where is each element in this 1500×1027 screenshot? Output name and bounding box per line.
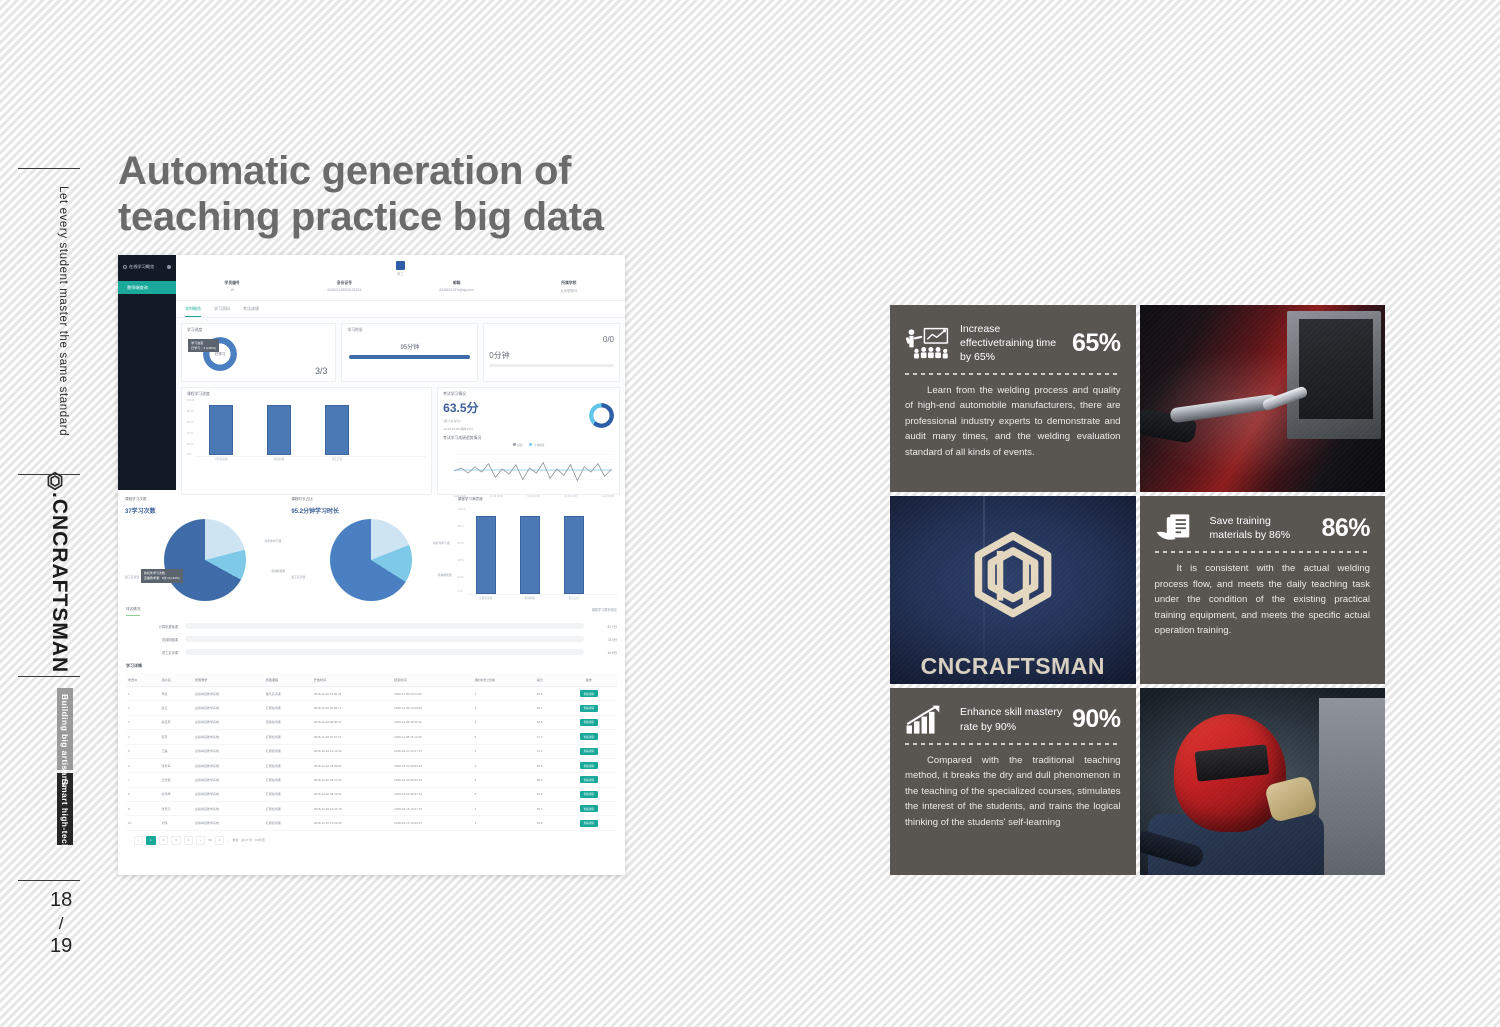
progress-fraction: 3/3 [315, 366, 328, 376]
xtick: 机械制图 [264, 457, 294, 461]
satisfaction-bars-plot: 100 % 80 % 60 % 40 % 20 % 0 % 计算机基础 机械制图… [458, 508, 618, 600]
zero-fraction: 0/0 [489, 335, 614, 344]
table-cell: 虚拟焊接教学系统 [193, 701, 264, 715]
goto-label[interactable]: 前往 [233, 838, 239, 842]
ranking-track [185, 649, 584, 655]
welder-red-helmet-photo [1140, 688, 1386, 875]
table-cell: 童凡实训课 [264, 687, 312, 701]
pie-left-caption: 课程学习次数 [125, 497, 285, 502]
table-cell: 打磨检测课 [264, 816, 312, 830]
ranking-value: 87.7分 [591, 624, 617, 629]
table-cell: 2018-10-22 08:27:51 [392, 787, 472, 801]
table-row: 2赵五虚拟焊接教学系统打磨检测课2018-11-09 09:59:112018-… [126, 701, 617, 715]
hexagon-knot-logo-icon [44, 470, 66, 492]
table-row: 6张永军虚拟焊接教学系统打磨检测课2018-10-24 09:50:502018… [126, 758, 617, 772]
stat-label: Enhance skill mastery rate by 90% [960, 705, 1063, 733]
table-cell: 2018-10-22 08:23:33 [392, 773, 472, 787]
ranking-track [185, 623, 584, 629]
table-cell: 打磨检测课 [264, 787, 312, 801]
table-cell: 虚拟焊接教学系统 [193, 715, 264, 729]
view-detail-button[interactable]: 查看详情 [580, 690, 598, 697]
table-cell: 64.0 [535, 787, 561, 801]
table-row: 8杜伟坤虚拟焊接教学系统打磨检测课2018-10-22 08:22:012018… [126, 787, 617, 801]
bar [209, 405, 233, 455]
column-header: 结束时间 [392, 673, 472, 687]
table-cell: 41.9 [535, 744, 561, 758]
table-cell: 59.7 [535, 701, 561, 715]
table-cell: 打磨检测课 [264, 802, 312, 816]
table-cell: 2 [473, 744, 535, 758]
table-cell: 虚拟焊接教学系统 [193, 730, 264, 744]
dashboard-top: 在线学习概览 教师端查询 张三 学员编号 19 [118, 255, 625, 490]
stat-body: Learn from the welding process and quali… [905, 383, 1121, 461]
table-cell: 3 [126, 715, 160, 729]
table-cell: 赵五 [160, 701, 194, 715]
table-row: 1李某虚拟焊接教学系统童凡实训课2018-11-09 10:00:312018-… [126, 687, 617, 701]
time-panel: 学习时长 95分钟 [341, 323, 478, 382]
table-cell: 35.4 [535, 802, 561, 816]
table-cell: 虚拟焊接教学系统 [193, 802, 264, 816]
table-cell: 47.4 [535, 730, 561, 744]
page-separator: / [50, 913, 72, 934]
xtick: 机械制图 [515, 596, 545, 600]
stat-divider [905, 743, 1121, 745]
column-header: 用户名 [160, 673, 194, 687]
bar [476, 516, 496, 594]
stat-label: Save training materials by 86% [1210, 514, 1313, 542]
view-detail-button[interactable]: 查看详情 [580, 762, 598, 769]
trend-title: 考试学习成绩趋势情况 [443, 436, 614, 441]
table-cell: 刘伟 [160, 816, 194, 830]
table-cell: 2018-11-09 08:36:37 [312, 715, 392, 729]
document-leaf-icon [1155, 513, 1201, 543]
view-detail-button[interactable]: 查看详情 [580, 776, 598, 783]
view-detail-button[interactable]: 查看详情 [580, 820, 598, 827]
table-cell: 10 [126, 816, 160, 830]
score-donut-chart [589, 403, 614, 428]
table-cell: 虚拟焊接教学系统 [193, 816, 264, 830]
stat-divider [905, 373, 1121, 375]
table-cell: 打磨检测课 [264, 701, 312, 715]
chip-building-big-artisans: Building big artisans [57, 688, 73, 770]
zero-panel: 0/0 0分钟 [483, 323, 620, 382]
table-cell: 5 [473, 773, 535, 787]
table-cell: 2018-11-09 10:00:31 [312, 687, 392, 701]
table-cell: 7 [126, 773, 160, 787]
dashboard-sidebar: 在线学习概览 教师端查询 [118, 255, 176, 490]
profile-field-label: 邮箱 [401, 281, 513, 286]
table-cell: 1 [473, 687, 535, 701]
profile-field-label: 所属学校 [513, 281, 625, 286]
table-row: 7王忠恒虚拟焊接教学系统打磨检测课2018-10-22 08:17:232018… [126, 773, 617, 787]
pie-right-headline: 95.2分钟学习时长 [291, 506, 451, 515]
pie-label: 钳工实训课 [125, 575, 139, 579]
table-cell: 打磨检测课 [264, 730, 312, 744]
ytick: 0 % [187, 453, 191, 456]
rail-chips: Building big artisans Smart high-tech [57, 688, 73, 848]
pagination: ‹ 1 2 3 4 › 50 1 ... 前往 共 27 条 10条/页 [126, 831, 617, 853]
page-button-3[interactable]: 3 [171, 836, 181, 845]
ranking-section: 排名情况 课程学习累积成绩 计算机基础课 87.7分 机械制图课 73.4分 钳… [118, 601, 625, 655]
progress-panel: 学习进度 学习进度 已学习：3 (100%) 已学习 3/3 [181, 323, 336, 382]
profile-strip: 张三 学员编号 19 身份证号 610621199002102233 邮箱 82 [176, 255, 625, 301]
table-cell: 7 [473, 802, 535, 816]
duration-pie-card: 课程时长占比 95.2分钟学习时长 新机件学习课 机械制图课 钳工实训课 [291, 497, 451, 601]
progress-tooltip: 学习进度 已学习：3 (100%) [188, 339, 219, 352]
table-cell: 9 [126, 802, 160, 816]
legend-dot-icon [529, 443, 532, 446]
table-cell: 5 [473, 787, 535, 801]
table-cell: 55.3 [535, 773, 561, 787]
rail-divider-bottom [18, 676, 80, 677]
stat-percent: 65% [1072, 329, 1121, 358]
ytick: 60 % [458, 542, 464, 545]
headline-line-2: teaching practice big data [118, 194, 638, 240]
pie-label: 新机件学习课 [265, 539, 282, 543]
duration-pie-chart [330, 519, 412, 601]
table-cell: 50.5 [535, 758, 561, 772]
table-row: 5王磊虚拟焊接教学系统打磨检测课2018-10-24 10:14:302018-… [126, 744, 617, 758]
table-cell: 打磨检测课 [264, 744, 312, 758]
time-panel-title: 学习时长 [347, 328, 472, 333]
satisfaction-bars-card: 课程学习满意度 100 % 80 % 60 % 40 % 20 % 0 % 计算… [458, 497, 618, 601]
caret-icon [167, 265, 171, 269]
ytick: 100 % [458, 508, 465, 511]
xtick: 计算机基础 [206, 457, 236, 461]
pie-label: 钳工实训课 [291, 575, 305, 579]
stat-body: It is consistent with the actual welding… [1155, 561, 1371, 639]
table-cell: 2018-10-15 10:47:19 [392, 802, 472, 816]
headline-line-1: Automatic generation of [118, 149, 571, 193]
jacket-wordmark: CNCRAFTSMAN [921, 653, 1105, 680]
pie-left-tooltip: 新机件学习次数 直播教学课：8次 (21.62%) [141, 569, 183, 583]
score-panel: 考试学习情况 63.5分 (累计总得分) 11-09 10:00 用时10分 考… [437, 387, 620, 495]
dashboard-screenshot: 在线学习概览 教师端查询 张三 学员编号 19 [118, 255, 625, 875]
sidebar-header: 在线学习概览 [118, 255, 176, 270]
stat-card-save-materials: Save training materials by 86% 86% It is… [1140, 496, 1386, 683]
table-cell: 2018-10-22 08:17:23 [312, 773, 392, 787]
table-cell: 2018-10-15 10:41:19 [312, 802, 392, 816]
table-cell: 李某 [160, 687, 194, 701]
profile-field-value: 19 [176, 288, 288, 292]
table-cell: 1 [126, 687, 160, 701]
table-row: 3赵亚男虚拟焊接教学系统因素检测课2018-11-09 08:36:372018… [126, 715, 617, 729]
table-cell: 2018-11-09 10:00:54 [392, 701, 472, 715]
xtick: 10-24 10:00 [490, 495, 503, 498]
ytick: 20 % [458, 576, 464, 579]
table-row: 10刘伟虚拟焊接教学系统打磨检测课2018-10-15 10:22:052018… [126, 816, 617, 830]
column-header: 操作 [560, 673, 617, 687]
stat-body: Compared with the traditional teaching m… [905, 753, 1121, 831]
ranking-name: 计算机基础课 [126, 624, 178, 629]
table-cell: 2018-10-24 10:17:37 [392, 744, 472, 758]
table-cell: 虚拟焊接教学系统 [193, 744, 264, 758]
table-cell: 赵亚男 [160, 715, 194, 729]
circle-icon [123, 265, 127, 269]
page-size-select[interactable]: 10条/页 [255, 838, 265, 842]
tab-exam-scores[interactable]: 考试成绩 [243, 306, 259, 317]
progress-panel-title: 学习进度 [187, 328, 330, 333]
xtick: 计算机基础 [471, 596, 501, 600]
trend-line-chart: 11-09 10:00 10-24 10:00 10-15 10:00 10-1… [443, 450, 614, 490]
last-page-button[interactable]: 50 [208, 838, 211, 842]
tab-hours-overview[interactable]: 学时概览 [185, 306, 201, 317]
table-cell: 2018-11-09 09:59:11 [312, 701, 392, 715]
profile-field: 学员编号 19 [176, 281, 288, 293]
legend-item-score: 成绩 [513, 443, 523, 447]
chevron-right-icon[interactable]: › [196, 836, 205, 845]
stat-divider [1155, 551, 1371, 553]
rail-tagline: Let every student master the same standa… [57, 186, 69, 436]
table-cell: 5 [126, 744, 160, 758]
stat-card-skill-mastery: Enhance skill mastery rate by 90% 90% Co… [890, 688, 1136, 875]
table-cell: 王磊 [160, 744, 194, 758]
view-detail-button[interactable]: 查看详情 [580, 733, 598, 740]
xtick: 11-09 10:00 [453, 495, 466, 498]
page-number: 18 / 19 [50, 888, 72, 959]
score-note: 11-09 10:00 用时10分 [443, 426, 583, 431]
tab-materials[interactable]: 学习资料 [214, 306, 230, 317]
table-cell: 虚拟焊接教学系统 [193, 687, 264, 701]
table-cell: 1 [473, 701, 535, 715]
time-progress-bar [349, 355, 470, 359]
bar [267, 405, 291, 455]
chevron-left-icon[interactable]: ‹ [134, 836, 143, 845]
ranking-name: 钳工实训课 [126, 650, 178, 655]
ytick: 60 % [187, 421, 193, 424]
score-value: 63.5分 [443, 399, 583, 416]
table-cell: 62.5 [535, 715, 561, 729]
page-button-1[interactable]: 1 [146, 836, 156, 845]
legend-item-average: 平均成绩 [529, 443, 544, 447]
stat-card-effective-training: Increase effectivetraining time by 65% 6… [890, 305, 1136, 492]
avatar-caption: 张三 [176, 271, 625, 276]
table-row: 4陈芳虚拟焊接教学系统打磨检测课2018-11-08 15:07:112018-… [126, 730, 617, 744]
course-bars-plot: 100 % 80 % 60 % 40 % 20 % 0 % 计算机基础 机械制图 [187, 399, 426, 461]
page-current: 18 [50, 888, 72, 913]
column-header: 学员ID [126, 673, 160, 687]
profile-field-value: 610621199002102233 [288, 288, 400, 292]
table-cell: 2018-11-08 15:12:20 [392, 730, 472, 744]
ytick: 80 % [187, 410, 193, 413]
chip-smart-high-tech: Smart high-tech [57, 773, 73, 845]
table-cell: 6 [126, 758, 160, 772]
bar [564, 516, 584, 594]
ytick: 20 % [187, 443, 193, 446]
table-body: 1李某虚拟焊接教学系统童凡实训课2018-11-09 10:00:312018-… [126, 687, 617, 831]
bar [520, 516, 540, 594]
rail-divider-page [18, 880, 80, 881]
ranking-track [185, 636, 584, 642]
hexagon-knot-logo-icon [959, 525, 1067, 633]
table-cell: 2018-11-08 15:07:11 [312, 730, 392, 744]
profile-field-value: 九州学院01 [513, 288, 625, 293]
page-total: 19 [50, 934, 72, 959]
left-rail: Let every student master the same standa… [0, 0, 100, 1027]
column-header: 所属课程 [264, 673, 312, 687]
xtick: 11-10 10:00 [601, 495, 614, 498]
table-cell: 2 [126, 701, 160, 715]
monitor-screen-shape [1299, 319, 1373, 419]
table-cell: 2018-11-09 10:02:32 [392, 687, 472, 701]
table-header-row: 学员ID 用户名 所属教学 所属课程 开始时间 结束时间 用时时长(分钟) 得分… [126, 673, 617, 687]
pie-right-caption: 课程时长占比 [291, 497, 451, 502]
table-cell: 2018-10-22 08:22:01 [312, 787, 392, 801]
table-cell: 2018-10-24 09:50:50 [312, 758, 392, 772]
table-cell: 王忠恒 [160, 773, 194, 787]
ranking-tab[interactable]: 排名情况 [126, 607, 140, 616]
charts-row: 课程学习进度 100 % 80 % 60 % 40 % 20 % 0 % [176, 387, 625, 500]
legend-dot-icon [513, 443, 516, 446]
profile-field-value: 824563132%@qq.com [401, 288, 513, 292]
stat-percent: 86% [1321, 514, 1370, 543]
table-title: 学习详情 [126, 663, 617, 669]
profile-field: 所属学校 九州学院01 [513, 281, 625, 293]
view-detail-button[interactable]: 查看详情 [580, 705, 598, 712]
table-cell: 2018-10-15 10:22:05 [312, 816, 392, 830]
dashboard-middle: 课程学习次数 37学习次数 新机件学习课 机械制图课 钳工实训课 新机件学习次数… [118, 490, 625, 601]
column-header: 用时时长(分钟) [473, 673, 535, 687]
table-cell: 5 [473, 730, 535, 744]
table-cell: 陈芳 [160, 730, 194, 744]
pie-label: 机械制图课 [438, 573, 452, 577]
ranking-row: 计算机基础课 87.7分 [126, 623, 617, 629]
course-progress-title: 课程学习进度 [187, 392, 426, 397]
profile-field-label: 学员编号 [176, 281, 288, 286]
growth-bar-chart-icon [905, 705, 951, 735]
sidebar-item-teacher-query[interactable]: 教师端查询 [118, 281, 176, 294]
table-cell: 2018-10-15 10:34:27 [392, 816, 472, 830]
score-panel-title: 考试学习情况 [443, 392, 614, 397]
xtick: 10-11 10:00 [564, 495, 577, 498]
view-detail-button[interactable]: 查看详情 [580, 791, 598, 798]
dashboard-tabs: 学时概览 学习资料 考试成绩 [176, 301, 625, 318]
table-cell: 张景元 [160, 802, 194, 816]
view-detail-button[interactable]: 查看详情 [580, 719, 598, 726]
column-header: 所属教学 [193, 673, 264, 687]
pie-left-headline: 37学习次数 [125, 506, 285, 515]
table-cell: 4 [473, 715, 535, 729]
table-cell: 虚拟焊接教学系统 [193, 787, 264, 801]
column-header: 得分 [535, 673, 561, 687]
pie-label: 机械制图课 [271, 569, 285, 573]
xtick: 钳工实训 [322, 457, 352, 461]
detail-table-section: 学习详情 学员ID 用户名 所属教学 所属课程 开始时间 结束时间 用时时长(分… [118, 655, 625, 853]
ytick: 0 % [458, 590, 462, 593]
goto-input[interactable]: 1 [215, 836, 225, 845]
page-title: Automatic generation of teaching practic… [118, 148, 638, 240]
table-cell: 2018-11-09 09:00:32 [392, 715, 472, 729]
profile-field-label: 身份证号 [288, 281, 400, 286]
page-button-2[interactable]: 2 [159, 836, 169, 845]
table-cell: 因素检测课 [264, 715, 312, 729]
torch-body-shape [1169, 394, 1278, 424]
xtick: 10-15 10:00 [527, 495, 540, 498]
ranking-row: 钳工实训课 44.6分 [126, 649, 617, 655]
table-cell: 2018-10-24 09:53:10 [392, 758, 472, 772]
dashboard-main: 张三 学员编号 19 身份证号 610621199002102233 邮箱 82 [176, 255, 625, 490]
rail-brand: .CNCRAFTSMAN [47, 492, 71, 673]
stats-photo-grid: Increase effectivetraining time by 65% 6… [890, 305, 1385, 875]
table-cell: 8 [126, 787, 160, 801]
tooltip-line-2: 直播教学课：8次 (21.62%) [144, 576, 180, 581]
workpiece-panel-shape [1319, 698, 1385, 875]
table-cell: 63.5 [535, 687, 561, 701]
ranking-value: 44.6分 [591, 650, 617, 655]
ytick: 40 % [458, 559, 464, 562]
kpi-panels: 学习进度 学习进度 已学习：3 (100%) 已学习 3/3 学习时长 [176, 318, 625, 387]
table-cell: 虚拟焊接教学系统 [193, 758, 264, 772]
table-row: 9张景元虚拟焊接教学系统打磨检测课2018-10-15 10:41:192018… [126, 802, 617, 816]
teacher-presentation-icon [905, 327, 951, 359]
learning-count-pie-card: 课程学习次数 37学习次数 新机件学习课 机械制图课 钳工实训课 新机件学习次数… [125, 497, 285, 601]
table-cell: 张永军 [160, 758, 194, 772]
stat-percent: 90% [1072, 705, 1121, 734]
bar [325, 405, 349, 455]
ytick: 40 % [187, 432, 193, 435]
table-cell: 1 [473, 816, 535, 830]
time-minutes: 95分钟 [347, 342, 472, 351]
view-detail-button[interactable]: 查看详情 [580, 805, 598, 812]
welding-torch-monitor-photo [1140, 305, 1386, 492]
table-cell: 虚拟焊接教学系统 [193, 773, 264, 787]
table-cell: 4 [126, 730, 160, 744]
cncraftsman-jacket-photo: CNCRAFTSMAN [890, 496, 1136, 683]
tooltip-line-2: 已学习：3 (100%) [191, 346, 216, 351]
score-sub: (累计总得分) [443, 418, 583, 423]
pager-ellipsis: ... [227, 838, 229, 842]
view-detail-button[interactable]: 查看详情 [580, 748, 598, 755]
table-cell: 打磨检测课 [264, 758, 312, 772]
table-cell: 2018-10-24 10:14:30 [312, 744, 392, 758]
stat-label: Increase effectivetraining time by 65% [960, 322, 1063, 365]
pie-label: 新机件学习课 [433, 541, 450, 545]
detail-table: 学员ID 用户名 所属教学 所属课程 开始时间 结束时间 用时时长(分钟) 得分… [126, 673, 617, 831]
ranking-row: 机械制图课 73.4分 [126, 636, 617, 642]
ranking-value: 73.4分 [591, 637, 617, 642]
learning-count-pie-chart [164, 519, 246, 601]
ranking-right-label: 课程学习累积成绩 [592, 607, 618, 612]
ytick: 80 % [458, 525, 464, 528]
ranking-name: 机械制图课 [126, 637, 178, 642]
user-avatar-icon [396, 261, 405, 270]
profile-field: 邮箱 824563132%@qq.com [401, 281, 513, 293]
table-cell: 打磨检测课 [264, 773, 312, 787]
course-progress-chart: 课程学习进度 100 % 80 % 60 % 40 % 20 % 0 % [181, 387, 432, 495]
table-cell: 2 [473, 758, 535, 772]
xtick: 钳工实训 [559, 596, 589, 600]
page-button-4[interactable]: 4 [184, 836, 194, 845]
trend-legend: 成绩 平均成绩 [443, 443, 614, 447]
column-header: 开始时间 [312, 673, 392, 687]
rail-divider-top [18, 168, 80, 169]
zero-progress-bar [489, 364, 614, 367]
table-cell: 63.6 [535, 816, 561, 830]
zero-minutes: 0分钟 [489, 350, 614, 361]
sidebar-header-label: 在线学习概览 [129, 264, 154, 270]
ytick: 100 % [187, 399, 194, 402]
table-cell: 杜伟坤 [160, 787, 194, 801]
profile-field: 身份证号 610621199002102233 [288, 281, 400, 293]
total-count-label: 共 27 条 [241, 838, 252, 842]
